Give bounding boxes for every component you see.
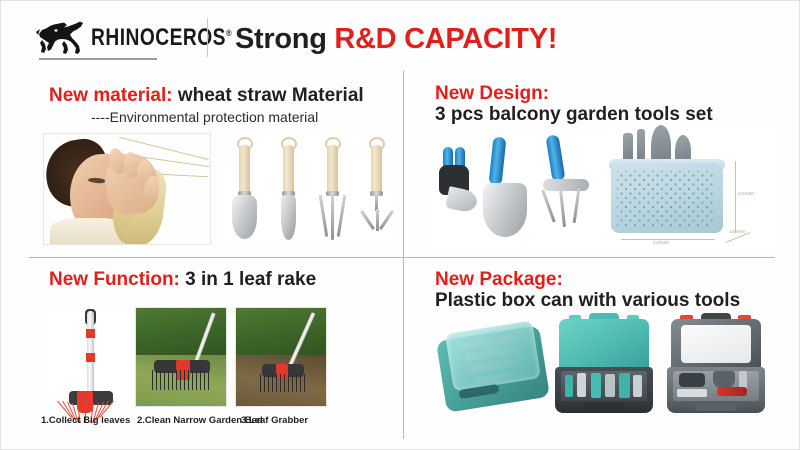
rake-narrow-bed-photo [235,307,327,407]
new-design-label: New Design: [435,83,549,104]
case-lid-shape [559,319,649,369]
straw-handle-trowel [227,137,263,241]
height-dimension-label: 240MM [738,191,754,196]
woman-smelling-wheat-photo [43,133,211,245]
slide-header: RHINOCEROS® Strong R&D CAPACITY! [1,1,800,69]
cultivator-claw-shape [360,210,375,230]
width-dimension-label: 240MM [653,240,669,245]
case-tool-shape [565,375,573,397]
new-design-description: 3 pcs balcony garden tools set [435,104,713,125]
case-tool-shape [591,373,601,398]
rake-collecting-leaves-photo [135,307,227,407]
leaf-rake-product-photo [43,307,127,423]
red-handle-tool-shape [717,387,747,396]
pole-band-shape [86,353,95,362]
cultivator-handle-shape [545,134,565,181]
height-dimension-line [735,161,736,233]
cultivator-head-shape [543,179,589,191]
basket-caddy-photo: 240MM 105MM 240MM [607,125,781,249]
panel-new-function: New Function: 3 in 1 leaf rake [29,263,399,439]
straw-handle-shape [327,145,338,193]
new-function-label-red: New Function: [49,269,180,290]
blue-handle-tools-photo [431,131,611,249]
fork-prong-shape [331,195,334,240]
panel-new-material: New material: wheat straw Material ----E… [29,77,399,253]
case-tool-shape [605,374,615,397]
page-title: Strong R&D CAPACITY! [235,23,557,56]
vertical-divider [403,71,404,439]
fork-prong-shape [337,195,347,237]
brand-wordmark-text: RHINOCEROS [91,24,226,50]
straw-handle-shape [283,145,294,193]
pole-band-shape [86,329,95,338]
fork-prong-shape [319,195,329,237]
pruner-blade-shape [445,186,479,214]
caption-collect-big-leaves: 1.Collect Big leaves [41,415,130,426]
case-tool-shape [633,375,642,397]
logo-underline-rule [39,58,157,60]
straw-handle-fork [315,137,351,241]
panel-new-package: New Package: Plastic box can with variou… [421,263,781,439]
case-lid-inner-shape [681,325,751,363]
closed-teal-case-photo [435,311,551,417]
new-material-label-dark: wheat straw Material [173,85,364,106]
slide-canvas: RHINOCEROS® Strong R&D CAPACITY! New mat… [0,0,800,450]
brand-wordmark: RHINOCEROS® [91,24,232,51]
header-vertical-divider [207,18,208,57]
cultivator-claw-shape [573,189,581,223]
straw-handle-shape [239,145,250,193]
trowel-blade-shape [483,183,527,237]
depth-dimension-label: 105MM [729,229,745,234]
horizontal-divider [29,257,775,258]
new-material-label-red: New material: [49,85,173,106]
new-function-label-dark: 3 in 1 leaf rake [180,269,316,290]
straw-handle-transplanter [271,137,307,241]
open-gray-case-photo [661,311,771,421]
caption-leaf-grabber: 3.Leaf Grabber [241,415,308,426]
new-material-subtitle: ----Environmental protection material [91,109,318,125]
case-tool-shape [619,373,630,398]
case-tool-shape [677,389,707,397]
transplanter-blade-shape [281,195,296,240]
case-tool-shape [679,373,705,387]
cultivator-claw-shape [379,210,394,230]
basket-perforation-pattern [617,171,715,227]
new-package-label: New Package: [435,269,563,290]
rake-tines-shape [260,374,306,392]
open-teal-case-photo [549,311,659,421]
case-grip-shape [695,403,737,411]
registered-trademark-icon: ® [226,27,232,38]
case-grip-shape [583,403,625,411]
page-title-red-part: R&D CAPACITY! [334,23,557,55]
trowel-blade-shape [232,195,257,239]
rhino-icon [35,19,89,57]
rake-tines-shape [152,370,212,390]
panel-new-design: New Design: 3 pcs balcony garden tools s… [421,77,781,253]
new-material-heading: New material: wheat straw Material [49,85,364,106]
page-title-dark-part: Strong [235,23,334,55]
case-tool-shape [577,373,586,397]
straw-handle-shape [371,145,382,193]
new-function-heading: New Function: 3 in 1 leaf rake [49,269,316,290]
new-package-description: Plastic box can with various tools [435,290,740,311]
straw-handle-tools-photo [221,133,397,245]
cultivator-claw-shape [541,190,555,223]
straw-handle-cultivator [359,137,395,241]
trowel-handle-shape [489,136,507,185]
cultivator-claw-shape [559,189,566,227]
